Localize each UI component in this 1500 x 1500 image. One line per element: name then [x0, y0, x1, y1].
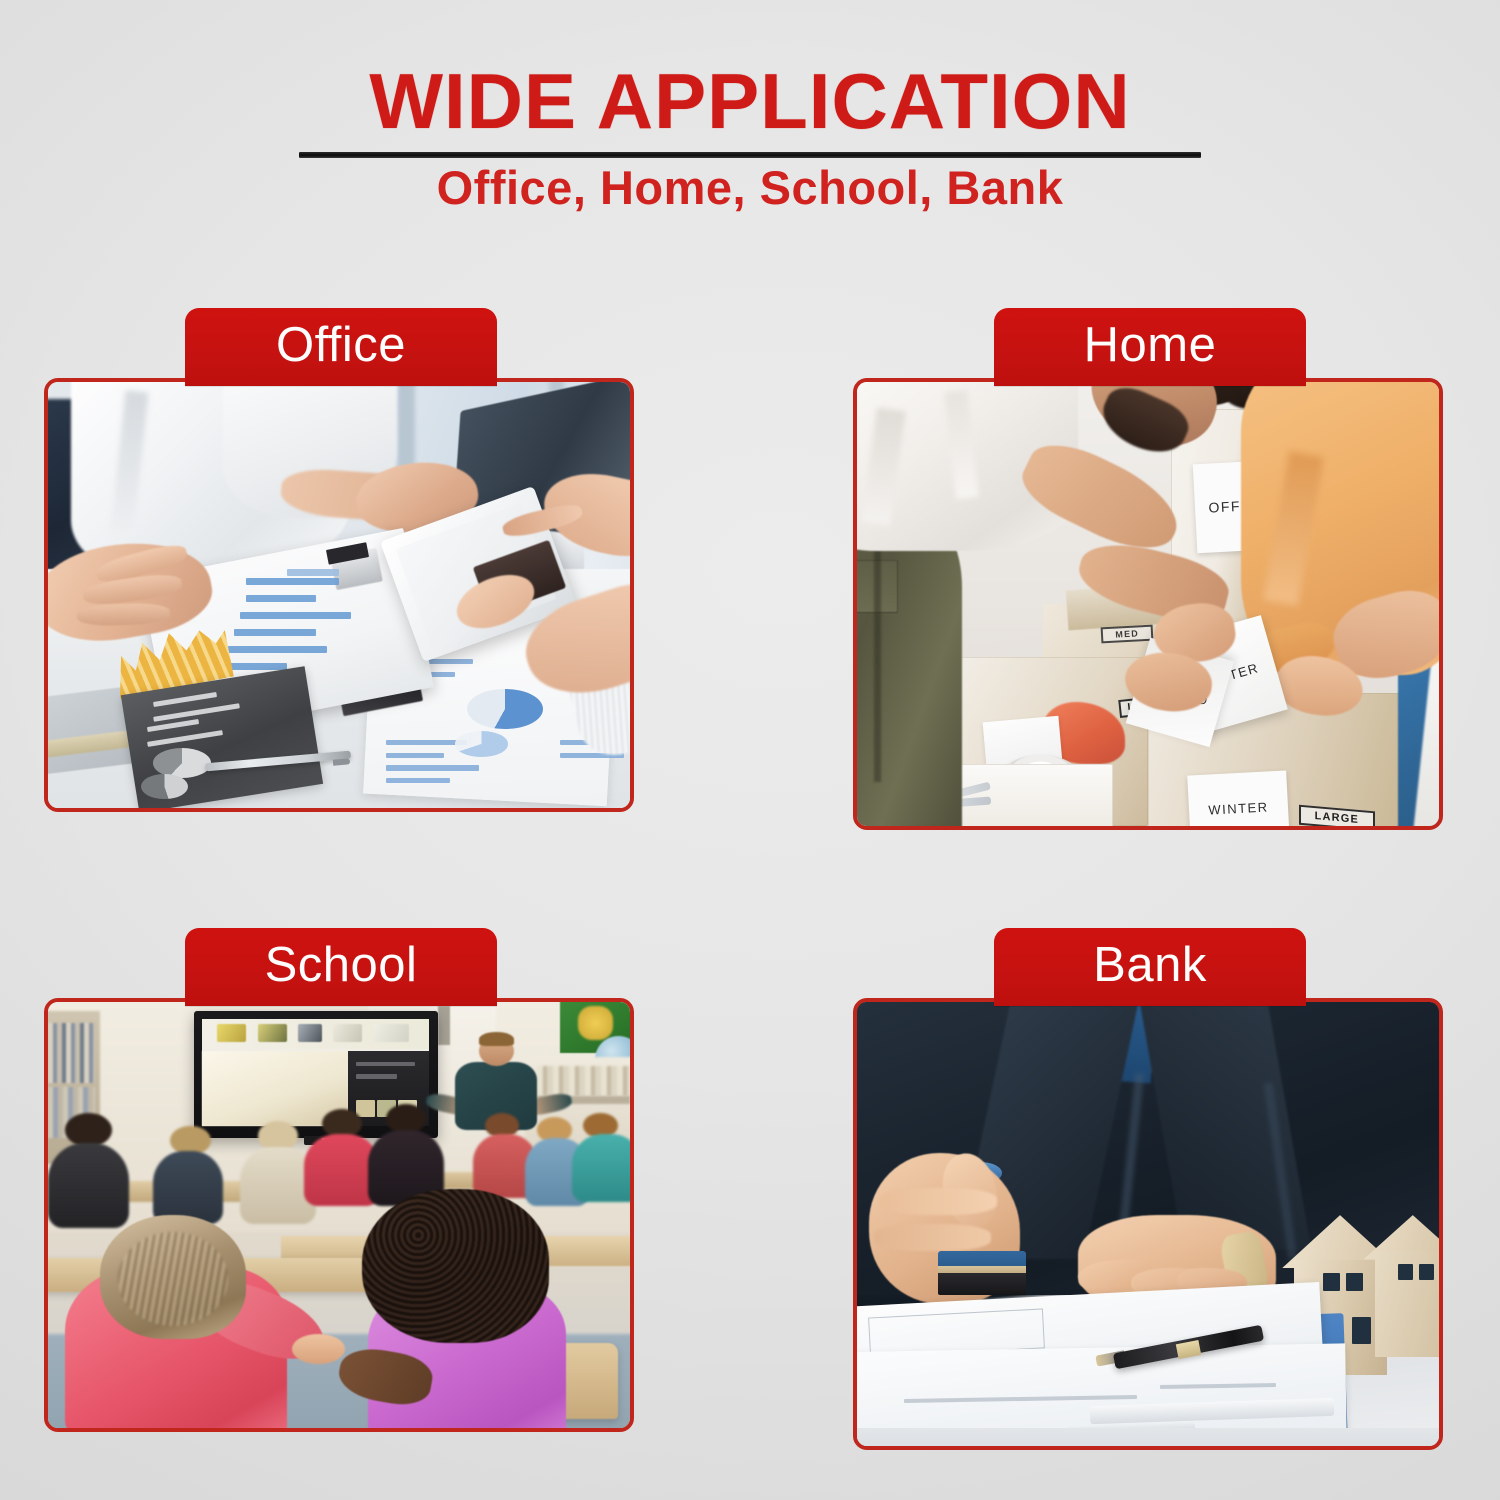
photo-office	[48, 382, 630, 808]
card-tab-label: Bank	[1093, 941, 1207, 990]
title-divider	[299, 152, 1201, 158]
box-label-winter-2: WINTER	[1187, 770, 1290, 826]
photo-school	[48, 1002, 630, 1428]
page-title: WIDE APPLICATION	[0, 62, 1500, 140]
card-tab-label: Home	[1084, 321, 1217, 370]
card-tab-label: Office	[276, 321, 406, 370]
photo-bank	[857, 1002, 1439, 1446]
card-tab-label: School	[265, 941, 418, 990]
photo-home: MEDIUM OFFICE OF MED LARGE WINTER LARGE	[857, 382, 1439, 826]
page-subtitle: Office, Home, School, Bank	[0, 160, 1500, 215]
header: WIDE APPLICATION Office, Home, School, B…	[0, 0, 1500, 250]
card-tab-office: Office	[185, 308, 497, 386]
photo-frame-school	[44, 998, 634, 1432]
photo-frame-office	[44, 378, 634, 812]
card-tab-bank: Bank	[994, 928, 1306, 1006]
photo-frame-home: MEDIUM OFFICE OF MED LARGE WINTER LARGE	[853, 378, 1443, 830]
photo-frame-bank	[853, 998, 1443, 1450]
card-tab-home: Home	[994, 308, 1306, 386]
card-tab-school: School	[185, 928, 497, 1006]
box-tag-med: MED	[1101, 625, 1154, 644]
